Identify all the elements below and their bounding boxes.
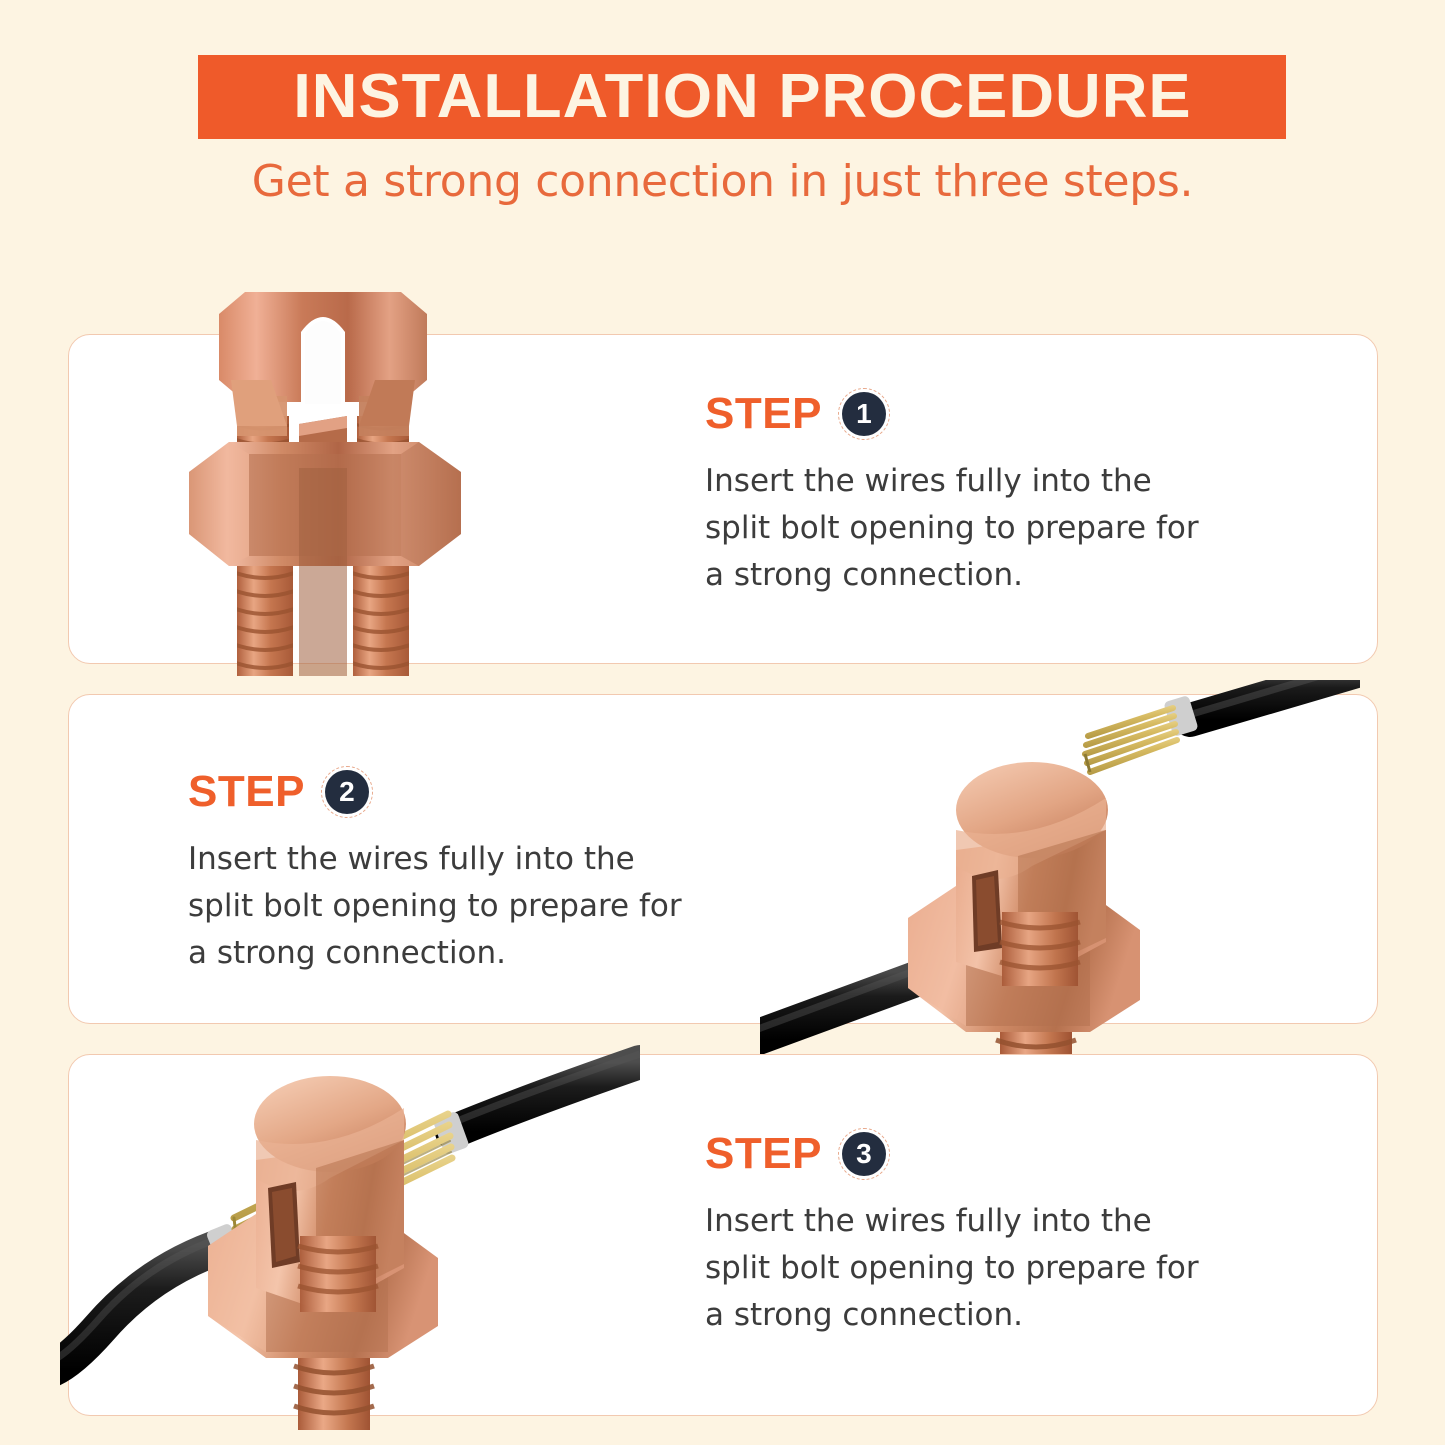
- step-text-3: STEP 3 Insert the wires fully into the s…: [705, 1128, 1205, 1339]
- step-description-3: Insert the wires fully into the split bo…: [705, 1198, 1205, 1339]
- step-text-1: STEP 1 Insert the wires fully into the s…: [705, 388, 1205, 599]
- wire-upper: [1085, 680, 1360, 772]
- step-description-2: Insert the wires fully into the split bo…: [188, 836, 688, 977]
- step-number-badge-2: 2: [321, 766, 373, 818]
- step-description-1: Insert the wires fully into the split bo…: [705, 458, 1205, 599]
- step-label-2: STEP: [188, 770, 305, 814]
- page-header: INSTALLATION PROCEDURE Get a strong conn…: [0, 0, 1445, 230]
- wire-right: [432, 1054, 640, 1155]
- badge-disc: 1: [842, 392, 886, 436]
- title-banner: INSTALLATION PROCEDURE: [198, 55, 1286, 139]
- badge-disc: 3: [842, 1132, 886, 1176]
- page-subtitle: Get a strong connection in just three st…: [0, 156, 1445, 207]
- step-text-2: STEP 2 Insert the wires fully into the s…: [188, 766, 688, 977]
- product-image-step-1: [175, 276, 475, 676]
- product-image-step-2: [760, 680, 1360, 1100]
- step-label-3: STEP: [705, 1132, 822, 1176]
- step-number-badge-3: 3: [838, 1128, 890, 1180]
- step-number-badge-1: 1: [838, 388, 890, 440]
- step-number-2: 2: [339, 778, 355, 806]
- step-number-1: 1: [856, 400, 872, 428]
- page-title: INSTALLATION PROCEDURE: [293, 66, 1191, 128]
- split-bolt-head: [254, 1076, 406, 1312]
- step-heading-2: STEP 2: [188, 766, 688, 818]
- step-heading-1: STEP 1: [705, 388, 1205, 440]
- badge-disc: 2: [325, 770, 369, 814]
- split-bolt-head: [956, 762, 1108, 986]
- step-number-3: 3: [856, 1140, 872, 1168]
- step-label-1: STEP: [705, 392, 822, 436]
- step-heading-3: STEP 3: [705, 1128, 1205, 1180]
- product-image-step-3: [60, 1040, 640, 1430]
